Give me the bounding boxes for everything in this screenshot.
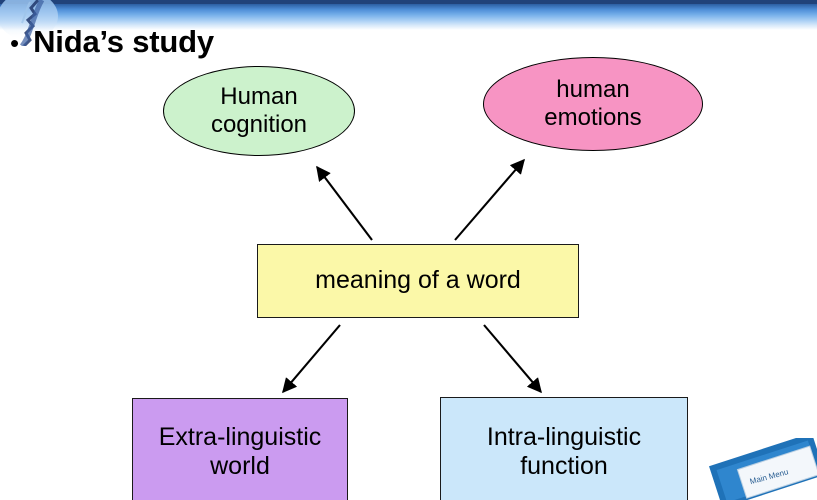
node-intra-linguistic-function-line2: function — [520, 452, 608, 480]
edge-meaning-to-human-emotions — [455, 160, 524, 240]
node-human-emotions[interactable]: human emotions — [483, 57, 703, 151]
node-extra-linguistic-world-line1: Extra-linguistic — [159, 423, 322, 451]
node-human-emotions-label: human emotions — [538, 76, 647, 133]
node-intra-linguistic-function[interactable]: Intra-linguistic function — [440, 397, 688, 500]
edge-meaning-to-human-cognition — [317, 167, 372, 240]
page-title: • Nida’s study — [10, 24, 214, 60]
title-bullet-icon: • — [10, 30, 19, 56]
edge-meaning-to-extra-linguistic — [283, 325, 340, 392]
slide-canvas: Main Menu • Nida’s study Human cognition… — [0, 0, 817, 500]
edge-meaning-to-intra-linguistic — [484, 325, 541, 392]
node-meaning-of-a-word[interactable]: meaning of a word — [257, 244, 579, 318]
node-intra-linguistic-function-line1: Intra-linguistic — [487, 423, 641, 451]
node-extra-linguistic-world-label: Extra-linguistic world — [153, 423, 328, 482]
node-intra-linguistic-function-label: Intra-linguistic function — [481, 423, 647, 482]
node-human-cognition-label: Human cognition — [205, 83, 313, 140]
node-meaning-of-a-word-label: meaning of a word — [309, 266, 527, 296]
node-human-cognition[interactable]: Human cognition — [163, 66, 355, 156]
node-human-emotions-line1: human — [556, 76, 629, 103]
node-human-cognition-line2: cognition — [211, 111, 307, 138]
node-human-cognition-line1: Human — [220, 83, 297, 110]
node-human-emotions-line2: emotions — [544, 104, 641, 131]
title-text: Nida’s study — [33, 24, 214, 60]
node-extra-linguistic-world-line2: world — [210, 452, 270, 480]
node-extra-linguistic-world[interactable]: Extra-linguistic world — [132, 398, 348, 500]
